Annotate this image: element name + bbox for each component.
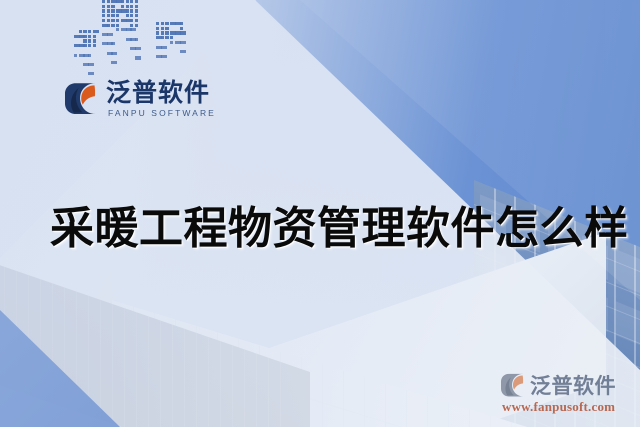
logo-name-cn: 泛普软件 [106,80,216,105]
banner-image: 泛普软件 FANPU SOFTWARE 采暖工程物资管理软件怎么样 泛普软件 w… [0,0,640,427]
watermark-logo-row: 泛普软件 [500,370,636,400]
watermark: 泛普软件 www.fanpusoft.com [500,370,636,415]
pixel-city-skyline-icon [74,0,214,86]
fanpu-logo-text: 泛普软件 FANPU SOFTWARE [106,80,216,118]
watermark-name-cn: 泛普软件 [530,370,616,400]
logo-name-en: FANPU SOFTWARE [108,109,216,118]
fanpu-logo-mark-icon [64,82,100,116]
banner-title: 采暖工程物资管理软件怎么样 [50,192,629,256]
fanpu-logo: 泛普软件 FANPU SOFTWARE [64,80,216,118]
watermark-logo-mark-icon [500,373,527,398]
watermark-url: www.fanpusoft.com [502,399,636,415]
